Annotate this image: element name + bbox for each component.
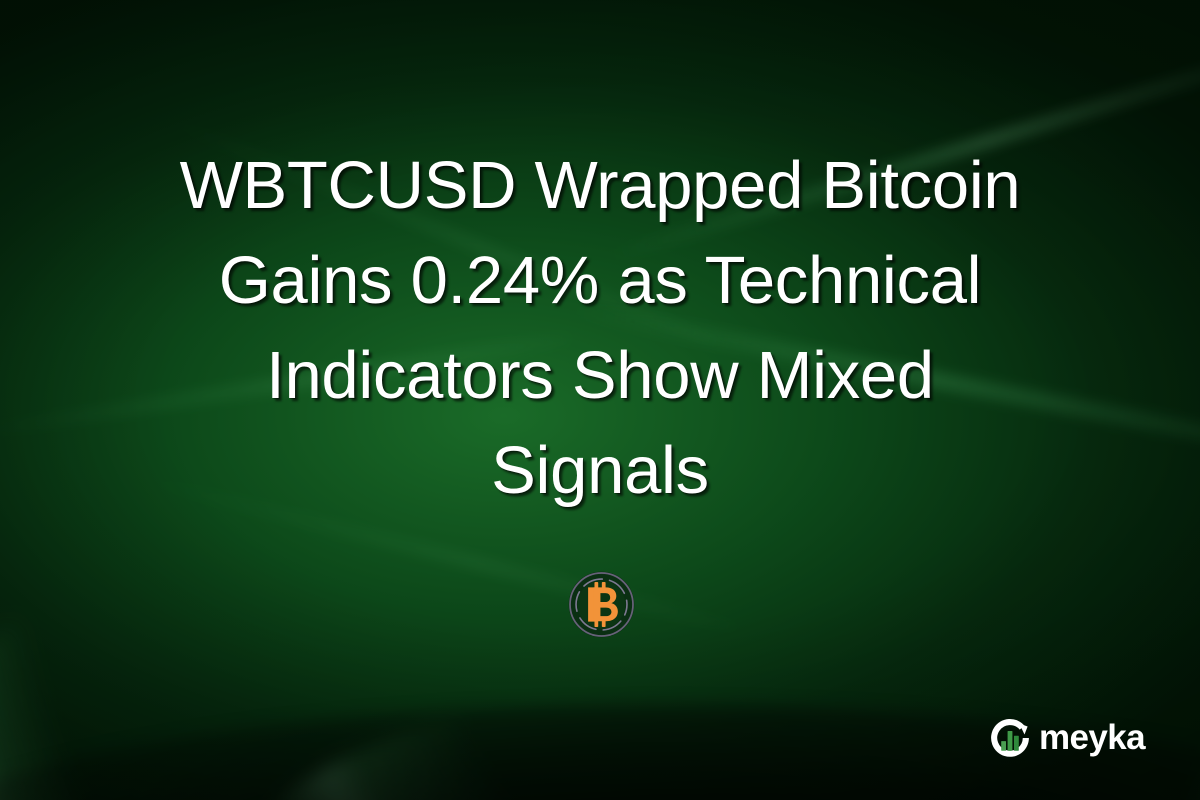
brand-name: meyka: [1039, 720, 1145, 757]
meyka-logo-icon: [988, 716, 1032, 760]
wrapped-bitcoin-icon: [568, 571, 635, 638]
meyka-bar-chart: [1001, 731, 1019, 751]
news-card: WBTCUSD Wrapped Bitcoin Gains 0.24% as T…: [0, 0, 1200, 800]
headline: WBTCUSD Wrapped Bitcoin Gains 0.24% as T…: [0, 138, 1200, 518]
wrapped-bitcoin-badge: [568, 571, 635, 638]
headline-line-3: Indicators Show Mixed: [70, 328, 1130, 423]
brand-lockup: meyka: [988, 716, 1145, 760]
headline-line-1: WBTCUSD Wrapped Bitcoin: [70, 138, 1130, 233]
headline-line-4: Signals: [70, 423, 1130, 518]
headline-line-2: Gains 0.24% as Technical: [70, 233, 1130, 328]
